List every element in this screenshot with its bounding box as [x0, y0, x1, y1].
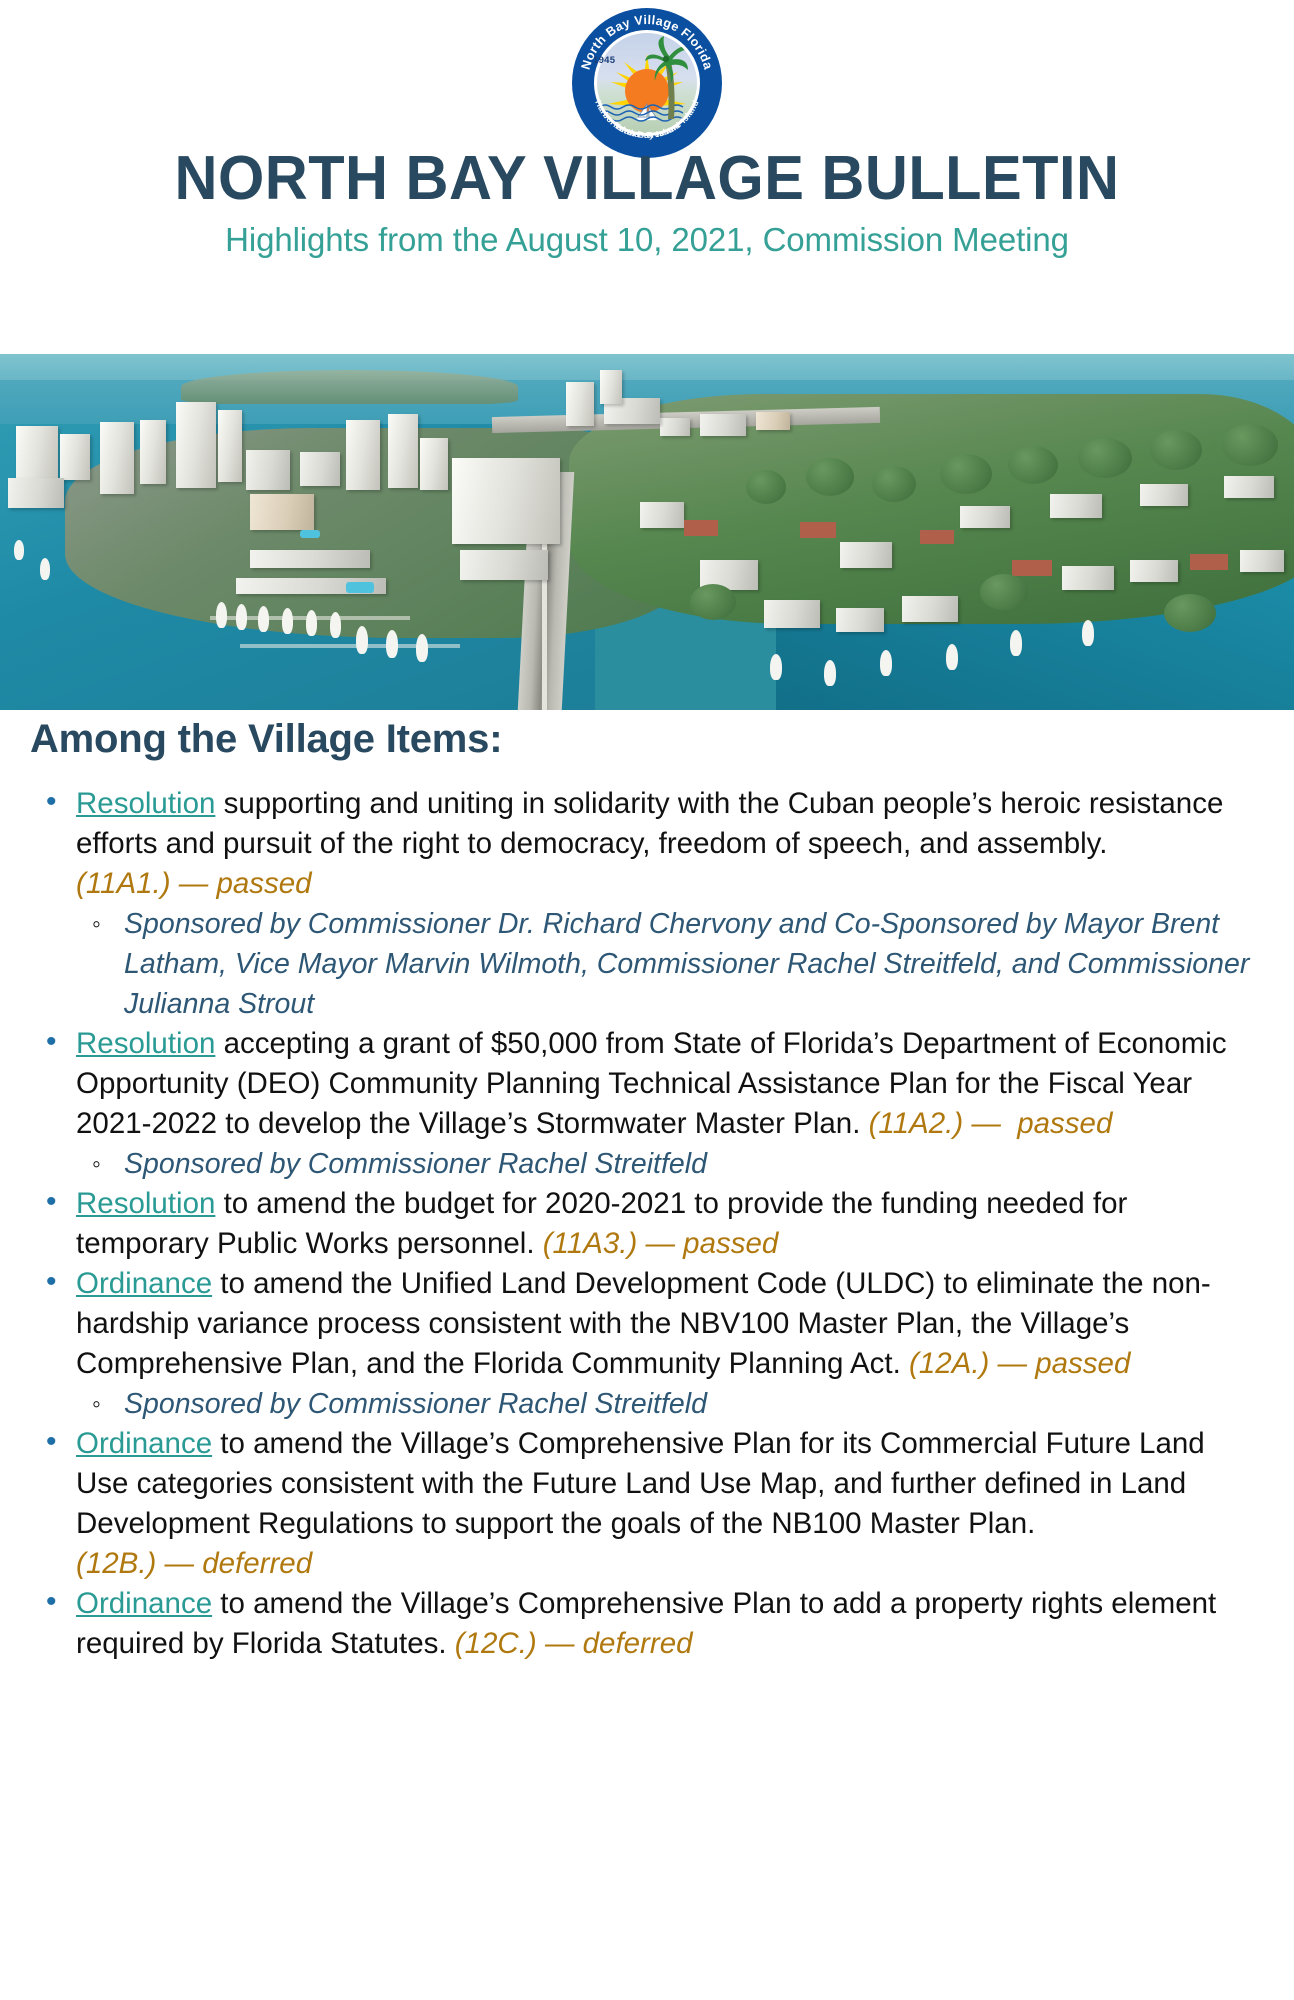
hero-island-distant — [181, 370, 517, 404]
hero-tree — [746, 470, 786, 504]
hero-building — [1224, 476, 1274, 498]
hero-building — [764, 600, 820, 628]
hero-building — [960, 506, 1010, 528]
hero-building — [700, 414, 746, 436]
hero-red-roof — [920, 530, 954, 544]
section-heading: Among the Village Items: — [30, 717, 502, 762]
hero-boat — [770, 654, 782, 680]
hero-red-roof — [1190, 554, 1228, 570]
page-subtitle: Highlights from the August 10, 2021, Com… — [0, 222, 1294, 258]
items-level2: Sponsored by Commissioner Dr. Richard Ch… — [76, 904, 1264, 1024]
hero-building — [100, 422, 134, 494]
hero-tree — [980, 574, 1028, 610]
hero-red-roof — [1012, 560, 1052, 576]
hero-building — [1140, 484, 1188, 506]
item-description: to amend the Village’s Comprehensive Pla… — [76, 1427, 1205, 1540]
hero-boat — [824, 660, 836, 686]
item-sponsor: Sponsored by Commissioner Rachel Streitf… — [76, 1144, 1264, 1184]
village-items-list: Resolution supporting and uniting in sol… — [30, 784, 1264, 1664]
item-document-link[interactable]: Resolution — [76, 787, 215, 820]
village-seal-logo: North Bay Village Florida Harbor Island … — [547, 8, 747, 158]
village-item: Resolution to amend the budget for 2020-… — [30, 1184, 1264, 1264]
item-sponsor: Sponsored by Commissioner Rachel Streitf… — [76, 1384, 1264, 1424]
hero-pool — [300, 530, 320, 538]
seal-year: 1945 — [593, 55, 615, 66]
hero-building — [140, 420, 166, 484]
item-document-link[interactable]: Ordinance — [76, 1587, 212, 1620]
item-document-link[interactable]: Ordinance — [76, 1427, 212, 1460]
hero-boat — [880, 650, 892, 676]
item-status-tag: (11A3.) — passed — [543, 1227, 779, 1260]
hero-boat — [258, 606, 269, 632]
item-status-tag: (12C.) — deferred — [455, 1627, 693, 1660]
hero-building — [640, 502, 684, 528]
hero-boat — [1010, 630, 1022, 656]
item-status-tag: (12B.) — deferred — [76, 1547, 312, 1580]
hero-tree — [1078, 438, 1132, 478]
hero-building — [8, 478, 64, 508]
hero-boat — [306, 610, 317, 636]
hero-boat — [416, 634, 428, 662]
hero-tree — [690, 584, 736, 620]
hero-boat — [946, 644, 958, 670]
item-document-link[interactable]: Ordinance — [76, 1267, 212, 1300]
bulletin-page: North Bay Village Florida Harbor Island … — [0, 0, 1294, 2000]
hero-building — [246, 450, 290, 490]
item-status-tag: (11A1.) — passed — [76, 867, 312, 900]
hero-building — [566, 382, 594, 426]
hero-boat — [386, 630, 398, 658]
hero-building — [756, 412, 790, 430]
item-sponsor: Sponsored by Commissioner Dr. Richard Ch… — [76, 904, 1264, 1024]
hero-parking-structure — [250, 550, 370, 568]
item-status-tag: (12A.) — passed — [909, 1347, 1130, 1380]
hero-boat — [1082, 620, 1094, 646]
hero-building — [836, 608, 884, 632]
item-document-link[interactable]: Resolution — [76, 1027, 215, 1060]
hero-building — [1130, 560, 1178, 582]
village-item: Ordinance to amend the Village’s Compreh… — [30, 1584, 1264, 1664]
hero-pool — [346, 582, 374, 593]
hero-boat — [40, 558, 50, 580]
hero-tree — [1150, 430, 1202, 470]
hero-building — [60, 434, 90, 480]
hero-tree — [806, 458, 854, 496]
village-item: Ordinance to amend the Unified Land Deve… — [30, 1264, 1264, 1424]
hero-aerial-photo — [0, 354, 1294, 710]
hero-building — [300, 452, 340, 486]
hero-building — [1050, 494, 1102, 518]
hero-building — [902, 596, 958, 622]
hero-building — [250, 494, 314, 530]
village-item: Resolution accepting a grant of $50,000 … — [30, 1024, 1264, 1184]
item-status-tag: (11A2.) — passed — [869, 1107, 1113, 1140]
hero-tree — [940, 454, 992, 494]
svg-text:Treasure Island: Treasure Island — [646, 99, 700, 140]
hero-building — [420, 438, 448, 490]
hero-building — [600, 370, 622, 404]
hero-building — [1240, 550, 1284, 572]
item-description: supporting and uniting in solidarity wit… — [76, 787, 1223, 860]
hero-red-roof — [800, 522, 836, 538]
hero-tree — [1164, 594, 1216, 632]
hero-building — [218, 410, 242, 482]
hero-boat — [330, 612, 341, 638]
hero-building — [660, 418, 690, 436]
hero-boat — [14, 540, 24, 560]
village-item: Resolution supporting and uniting in sol… — [30, 784, 1264, 1024]
hero-building — [176, 402, 216, 488]
logo-container: North Bay Village Florida Harbor Island … — [0, 8, 1294, 163]
hero-tree — [1008, 446, 1058, 484]
items-level2: Sponsored by Commissioner Rachel Streitf… — [76, 1144, 1264, 1184]
hero-boat — [216, 602, 227, 628]
hero-building — [346, 420, 380, 490]
hero-tree — [1222, 424, 1278, 466]
hero-red-roof — [684, 520, 718, 536]
hero-building — [840, 542, 892, 568]
hero-building — [460, 550, 548, 580]
hero-boat — [236, 604, 247, 630]
hero-building — [452, 458, 560, 544]
seal-text-arcs: North Bay Village Florida Harbor Island … — [572, 8, 722, 158]
items-level1: Resolution supporting and uniting in sol… — [30, 784, 1264, 1664]
page-title: NORTH BAY VILLAGE BULLETIN — [26, 148, 1268, 210]
item-document-link[interactable]: Resolution — [76, 1187, 215, 1220]
items-level2: Sponsored by Commissioner Rachel Streitf… — [76, 1384, 1264, 1424]
hero-building — [1062, 566, 1114, 590]
hero-building — [388, 414, 418, 488]
hero-building — [16, 426, 58, 484]
hero-boat — [356, 626, 368, 654]
hero-boat — [282, 608, 293, 634]
village-item: Ordinance to amend the Village’s Compreh… — [30, 1424, 1264, 1584]
hero-tree — [872, 466, 916, 502]
